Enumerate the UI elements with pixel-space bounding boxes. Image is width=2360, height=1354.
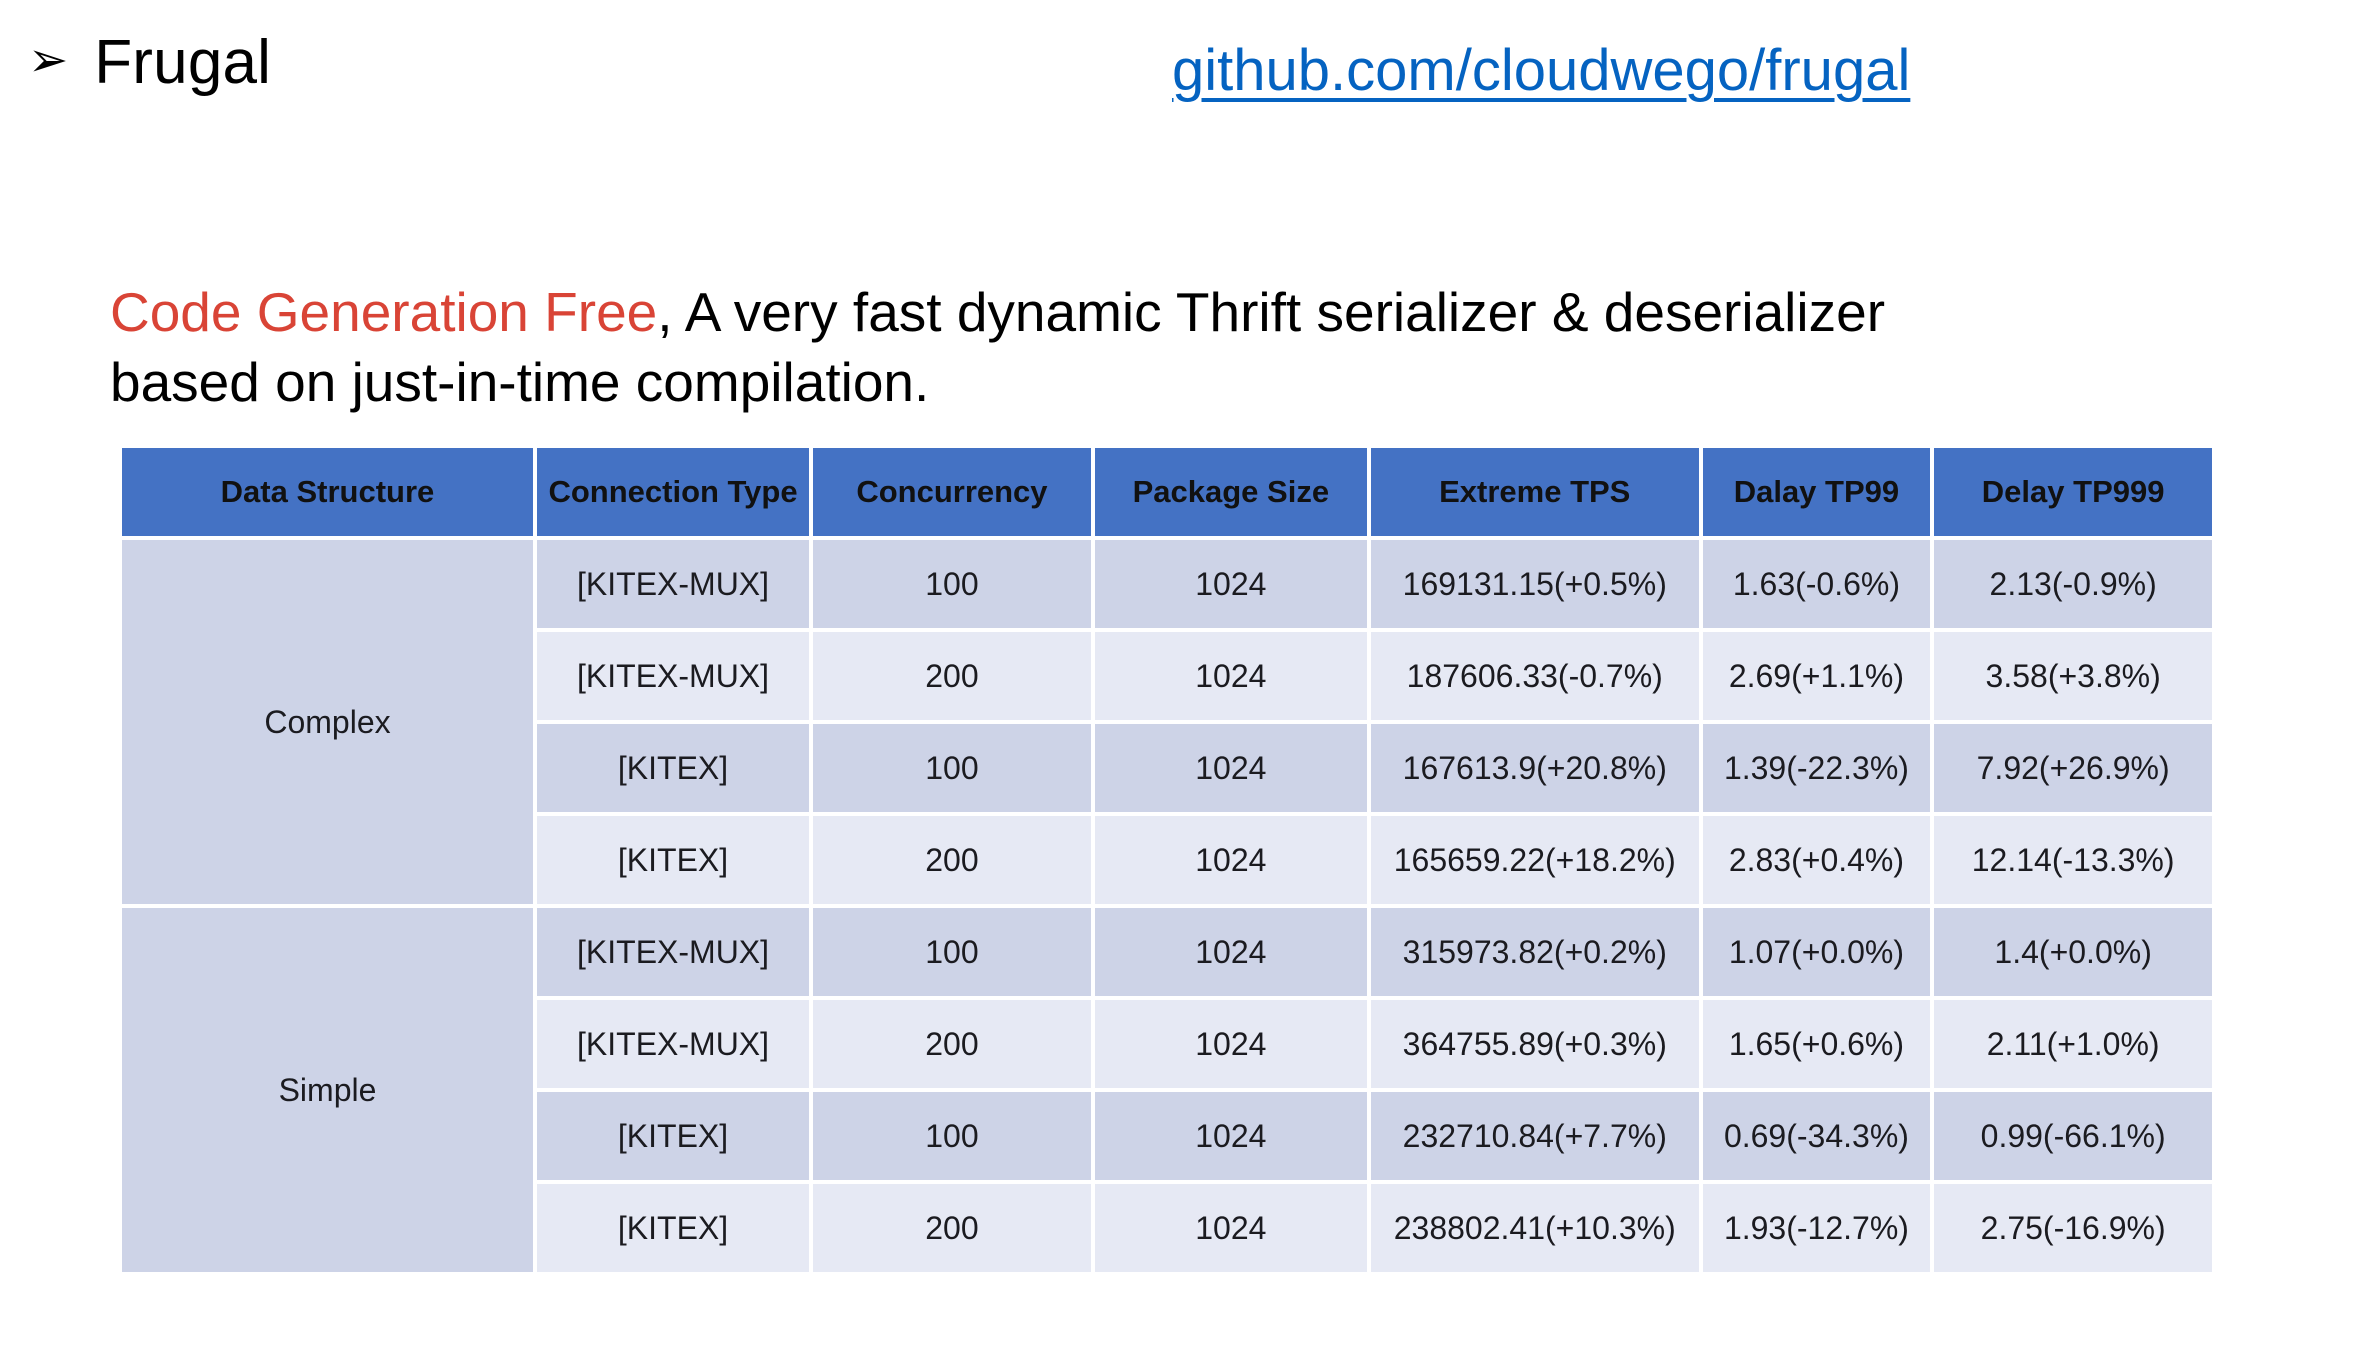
cell-concurrency: 100 — [813, 540, 1091, 628]
cell-concurrency: 200 — [813, 1000, 1091, 1088]
cell-delay-tp999: 2.11(+1.0%) — [1934, 1000, 2212, 1088]
column-header-extreme-tps: Extreme TPS — [1371, 448, 1699, 536]
cell-delay-tp99: 1.39(-22.3%) — [1703, 724, 1931, 812]
cell-delay-tp99: 1.93(-12.7%) — [1703, 1184, 1931, 1272]
description-accent-text: Code Generation Free — [110, 281, 657, 343]
column-header-concurrency: Concurrency — [813, 448, 1091, 536]
cell-connection-type: [KITEX] — [537, 1184, 809, 1272]
cell-package-size: 1024 — [1095, 724, 1367, 812]
cell-connection-type: [KITEX] — [537, 1092, 809, 1180]
cell-connection-type: [KITEX-MUX] — [537, 540, 809, 628]
cell-delay-tp999: 3.58(+3.8%) — [1934, 632, 2212, 720]
page-title: Frugal — [94, 32, 271, 94]
cell-concurrency: 200 — [813, 632, 1091, 720]
column-header-delay-tp999: Delay TP999 — [1934, 448, 2212, 536]
cell-concurrency: 100 — [813, 1092, 1091, 1180]
cell-concurrency: 100 — [813, 908, 1091, 996]
cell-extreme-tps: 169131.15(+0.5%) — [1371, 540, 1699, 628]
column-header-package-size: Package Size — [1095, 448, 1367, 536]
cell-delay-tp999: 2.13(-0.9%) — [1934, 540, 2212, 628]
table-body: Complex [KITEX-MUX] 100 1024 169131.15(+… — [122, 540, 2212, 1272]
group-cell-complex: Complex — [122, 540, 533, 904]
cell-concurrency: 100 — [813, 724, 1091, 812]
benchmark-table: Data Structure Connection Type Concurren… — [118, 444, 2216, 1276]
cell-package-size: 1024 — [1095, 540, 1367, 628]
cell-extreme-tps: 364755.89(+0.3%) — [1371, 1000, 1699, 1088]
cell-concurrency: 200 — [813, 1184, 1091, 1272]
table-header: Data Structure Connection Type Concurren… — [122, 448, 2212, 536]
cell-delay-tp999: 12.14(-13.3%) — [1934, 816, 2212, 904]
table-row: Complex [KITEX-MUX] 100 1024 169131.15(+… — [122, 540, 2212, 628]
cell-delay-tp999: 1.4(+0.0%) — [1934, 908, 2212, 996]
cell-connection-type: [KITEX-MUX] — [537, 632, 809, 720]
title-bullet-group: ➢ Frugal — [28, 32, 271, 94]
column-header-connection-type: Connection Type — [537, 448, 809, 536]
cell-extreme-tps: 238802.41(+10.3%) — [1371, 1184, 1699, 1272]
cell-package-size: 1024 — [1095, 816, 1367, 904]
repo-link[interactable]: github.com/cloudwego/frugal — [1172, 40, 1910, 103]
cell-connection-type: [KITEX-MUX] — [537, 908, 809, 996]
cell-delay-tp999: 0.99(-66.1%) — [1934, 1092, 2212, 1180]
cell-delay-tp99: 1.65(+0.6%) — [1703, 1000, 1931, 1088]
column-header-data-structure: Data Structure — [122, 448, 533, 536]
cell-delay-tp99: 2.83(+0.4%) — [1703, 816, 1931, 904]
cell-delay-tp999: 2.75(-16.9%) — [1934, 1184, 2212, 1272]
cell-delay-tp99: 1.63(-0.6%) — [1703, 540, 1931, 628]
table-header-row: Data Structure Connection Type Concurren… — [122, 448, 2212, 536]
cell-extreme-tps: 315973.82(+0.2%) — [1371, 908, 1699, 996]
cell-delay-tp99: 2.69(+1.1%) — [1703, 632, 1931, 720]
slide-title-row: ➢ Frugal github.com/cloudwego/frugal — [0, 14, 2360, 114]
cell-package-size: 1024 — [1095, 908, 1367, 996]
cell-package-size: 1024 — [1095, 632, 1367, 720]
cell-extreme-tps: 167613.9(+20.8%) — [1371, 724, 1699, 812]
table-row: Simple [KITEX-MUX] 100 1024 315973.82(+0… — [122, 908, 2212, 996]
cell-extreme-tps: 165659.22(+18.2%) — [1371, 816, 1699, 904]
group-cell-simple: Simple — [122, 908, 533, 1272]
cell-extreme-tps: 232710.84(+7.7%) — [1371, 1092, 1699, 1180]
column-header-delay-tp99: Dalay TP99 — [1703, 448, 1931, 536]
cell-delay-tp999: 7.92(+26.9%) — [1934, 724, 2212, 812]
cell-connection-type: [KITEX-MUX] — [537, 1000, 809, 1088]
cell-package-size: 1024 — [1095, 1000, 1367, 1088]
cell-delay-tp99: 1.07(+0.0%) — [1703, 908, 1931, 996]
cell-package-size: 1024 — [1095, 1092, 1367, 1180]
description-paragraph: Code Generation Free, A very fast dynami… — [110, 277, 2010, 418]
arrow-bullet-icon: ➢ — [28, 37, 68, 85]
cell-connection-type: [KITEX] — [537, 724, 809, 812]
cell-delay-tp99: 0.69(-34.3%) — [1703, 1092, 1931, 1180]
cell-extreme-tps: 187606.33(-0.7%) — [1371, 632, 1699, 720]
cell-concurrency: 200 — [813, 816, 1091, 904]
cell-package-size: 1024 — [1095, 1184, 1367, 1272]
cell-connection-type: [KITEX] — [537, 816, 809, 904]
